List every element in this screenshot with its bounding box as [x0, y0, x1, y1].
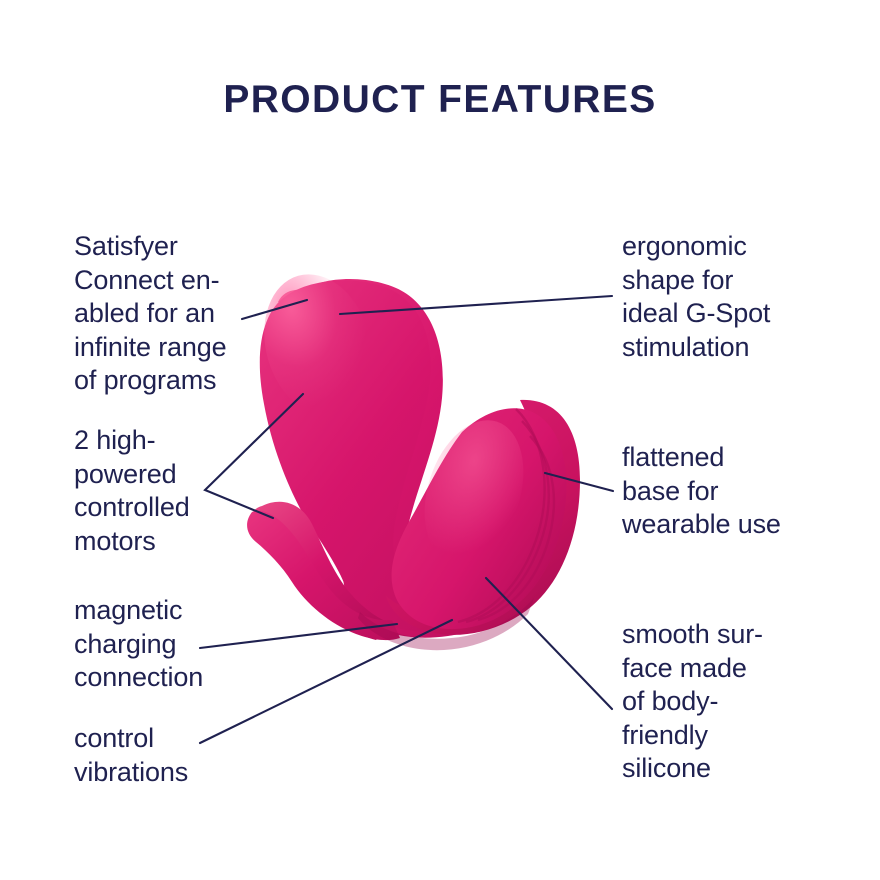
feature-label-control: control vibrations — [74, 722, 284, 789]
leader-line-smooth — [486, 578, 612, 709]
feature-label-connect: Satisfyer Connect en- abled for an infin… — [74, 230, 289, 398]
leader-line-ergonomic — [340, 296, 612, 314]
feature-label-motors: 2 high- powered controlled motors — [74, 424, 274, 558]
feature-label-ergonomic: ergonomic shape for ideal G-Spot stimula… — [622, 230, 837, 364]
feature-label-magnetic: magnetic charging connection — [74, 594, 284, 695]
product-features-infographic: PRODUCT FEATURES — [0, 0, 880, 880]
page-title: PRODUCT FEATURES — [0, 78, 880, 122]
feature-label-smooth: smooth sur- face made of body- friendly … — [622, 618, 832, 786]
leader-line-flattened — [545, 473, 613, 491]
feature-label-flattened: flattened base for wearable use — [622, 441, 842, 542]
